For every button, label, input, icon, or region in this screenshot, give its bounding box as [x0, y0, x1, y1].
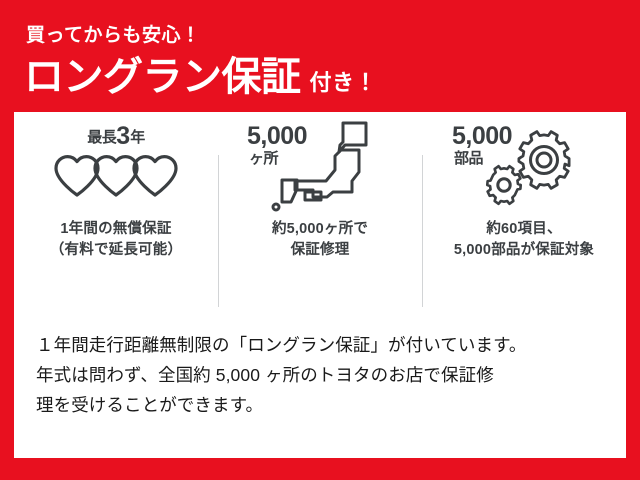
caption-line-2: 5,000部品が保証対象: [454, 242, 594, 258]
caption-line-2: 保証修理: [291, 242, 350, 258]
banner-header: 買ってからも安心！ ロングラン保証 付き！: [0, 0, 640, 112]
page-title: ロングラン保証: [24, 57, 301, 97]
feature-caption: 1年間の無償保証 （有料で延長可能）: [50, 219, 182, 260]
description-line-3: 理を受けることができます。: [36, 390, 616, 420]
feature-columns: 最長3年 1年間の無償保証 （有料で延長可能）: [14, 112, 626, 312]
caption-line-1: 1年間の無償保証: [60, 221, 171, 237]
description-paragraph: １年間走行距離無制限の「ロングラン保証」が付いています。 年式は問わず、全国約 …: [36, 330, 616, 420]
description-line-1: １年間走行距離無制限の「ロングラン保証」が付いています。: [36, 330, 616, 360]
feature-covered-parts: 5,000 部品: [422, 112, 626, 312]
caption-line-1: 約5,000ヶ所で: [272, 221, 368, 237]
description-line-2: 年式は問わず、全国約 5,000 ヶ所のトヨタのお店で保証修: [36, 360, 616, 390]
parts-unit: 部品: [454, 151, 483, 166]
header-headline: ロングラン保証 付き！: [24, 57, 377, 97]
warranty-period-value: 3: [116, 122, 130, 150]
japan-map-icon: [269, 118, 373, 219]
caption-line-2: （有料で延長可能）: [50, 242, 182, 258]
three-hearts-icon: [53, 152, 179, 203]
feature-service-locations: 5,000 ヶ所: [218, 112, 422, 312]
warranty-period-label: 最長3年: [14, 124, 218, 149]
warranty-period-unit: 年: [130, 129, 145, 146]
locations-headline: 5,000 ヶ所: [245, 118, 395, 214]
two-gears-icon: [482, 130, 586, 217]
feature-headline: 5,000 部品: [422, 112, 626, 217]
content-panel: 最長3年 1年間の無償保証 （有料で延長可能）: [14, 112, 626, 458]
feature-caption: 約60項目、 5,000部品が保証対象: [454, 219, 594, 260]
feature-headline: 最長3年: [14, 112, 218, 217]
feature-headline: 5,000 ヶ所: [218, 112, 422, 217]
parts-headline: 5,000 部品: [444, 118, 604, 214]
warranty-period-prefix: 最長: [87, 129, 116, 146]
warranty-promo-banner: 買ってからも安心！ ロングラン保証 付き！ 最長3年: [0, 0, 640, 480]
feature-caption: 約5,000ヶ所で 保証修理: [272, 219, 368, 260]
header-kicker: 買ってからも安心！: [26, 26, 201, 45]
feature-warranty-period: 最長3年 1年間の無償保証 （有料で延長可能）: [14, 112, 218, 312]
caption-line-1: 約60項目、: [486, 221, 561, 237]
header-suffix: 付き！: [310, 72, 378, 94]
